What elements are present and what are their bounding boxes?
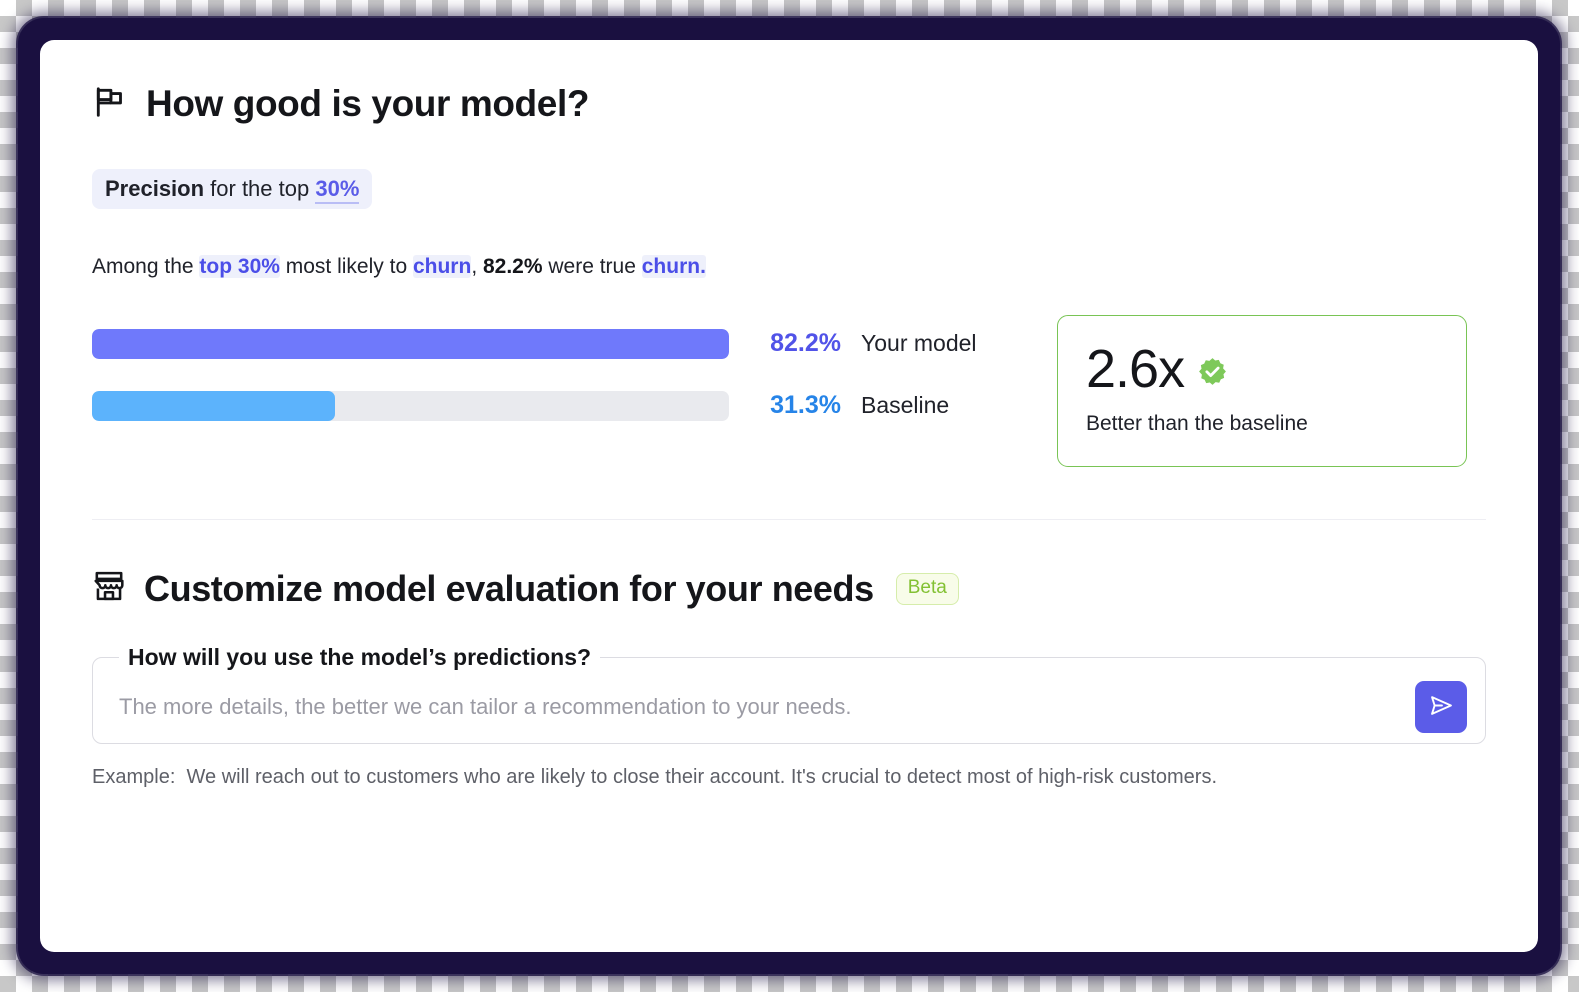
precision-bar-chart: 82.2% Your model 31.3% Baseline — [92, 315, 1057, 421]
verified-check-icon — [1197, 342, 1228, 396]
summary-part-3: , — [471, 255, 483, 278]
summary-top-percent: top 30% — [199, 255, 280, 278]
bar-value-baseline: 31.3% — [749, 391, 841, 420]
prediction-usage-legend: How will you use the model’s predictions… — [119, 644, 600, 671]
example-hint: Example: We will reach out to customers … — [92, 766, 1486, 789]
panel-card: How good is your model? Precision for th… — [40, 40, 1538, 952]
bar-track-your-model — [92, 329, 729, 359]
send-button[interactable] — [1415, 681, 1467, 733]
example-text: We will reach out to customers who are l… — [187, 766, 1218, 788]
performance-section-header: How good is your model? — [92, 84, 1486, 125]
example-label: Example: — [92, 766, 175, 788]
send-icon — [1428, 692, 1455, 722]
metric-chip[interactable]: Precision for the top 30% — [92, 169, 372, 209]
multiplier-row: 2.6x — [1086, 342, 1438, 396]
bar-fill-your-model — [92, 329, 729, 359]
summary-target-class-1: churn — [413, 255, 471, 278]
callout-caption: Better than the baseline — [1086, 412, 1438, 436]
metric-name: Precision — [105, 176, 204, 201]
bar-track-baseline — [92, 391, 729, 421]
summary-part-2: most likely to — [280, 255, 413, 278]
window-frame: How good is your model? Precision for th… — [18, 18, 1560, 974]
section-divider — [92, 519, 1486, 520]
prediction-usage-fieldset: How will you use the model’s predictions… — [92, 644, 1486, 744]
threshold-selector[interactable]: 30% — [315, 176, 359, 204]
summary-part-4: were true — [543, 255, 642, 278]
metric-chip-text: for the top — [204, 176, 315, 201]
summary-part-1: Among the — [92, 255, 199, 278]
bar-label-your-model: Your model — [861, 330, 977, 357]
improvement-callout-card: 2.6x Better than the baseline — [1057, 315, 1467, 467]
bar-value-your-model: 82.2% — [749, 329, 841, 358]
multiplier-value: 2.6x — [1086, 342, 1184, 396]
summary-precision-value: 82.2% — [483, 255, 543, 278]
bar-row-baseline: 31.3% Baseline — [92, 391, 1057, 421]
page-title: How good is your model? — [146, 85, 589, 124]
results-row: 82.2% Your model 31.3% Baseline 2.6x — [92, 315, 1486, 467]
prediction-usage-field-wrapper: How will you use the model’s predictions… — [92, 644, 1486, 744]
flag-icon — [92, 84, 128, 125]
bar-fill-baseline — [92, 391, 335, 421]
bar-label-baseline: Baseline — [861, 392, 949, 419]
customize-section-header: Customize model evaluation for your need… — [92, 568, 1486, 610]
customize-title: Customize model evaluation for your need… — [144, 568, 874, 610]
summary-sentence: Among the top 30% most likely to churn, … — [92, 253, 1486, 280]
bar-row-your-model: 82.2% Your model — [92, 329, 1057, 359]
summary-target-class-2: churn. — [642, 255, 706, 278]
beta-badge: Beta — [896, 573, 959, 605]
prediction-usage-input[interactable] — [107, 694, 1415, 720]
storefront-icon — [92, 569, 126, 608]
customize-section: Customize model evaluation for your need… — [92, 568, 1486, 789]
